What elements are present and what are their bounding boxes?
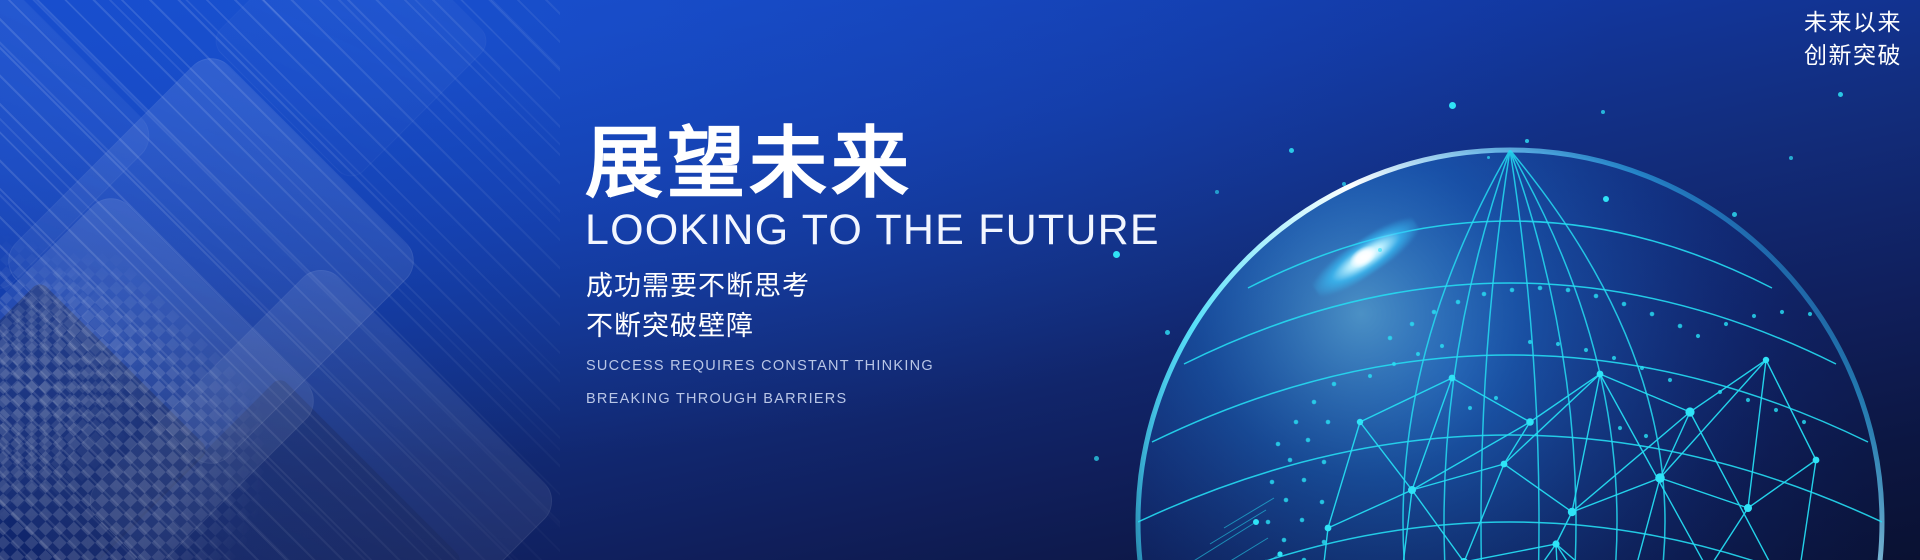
dark-diamond-shape [96,376,464,560]
banner-root: 未来以来 创新突破 展望未来 LOOKING TO THE FUTURE 成功需… [0,0,1920,560]
glass-panel-shape [208,0,494,184]
glass-panel-shape [0,187,325,560]
particle-dot [1289,148,1294,153]
particle-dot [1601,110,1605,114]
particle-dot [1094,456,1099,461]
glass-panel-shape [79,259,560,560]
headline-block: 展望未来 LOOKING TO THE FUTURE 成功需要不断思考 不断突破… [583,124,1223,413]
particle-dot [1449,102,1456,109]
checker-dot-pattern [0,232,328,560]
particle-dot [1342,182,1346,186]
tagline-cn-line1: 成功需要不断思考 [586,267,1223,305]
corner-tagline-line1: 未来以来 [1804,6,1902,39]
tagline-en-line2: BREAKING THROUGH BARRIERS [586,387,1223,412]
diagonal-stripes [0,0,560,560]
particle-dot [1487,156,1490,159]
glass-panel-shape [0,47,425,474]
tagline-en-line1: SUCCESS REQUIRES CONSTANT THINKING [586,354,1223,379]
corner-tagline-line2: 创新突破 [1804,39,1902,72]
diagonal-stripes [0,0,560,560]
particle-dot [1838,92,1843,97]
particle-dot [1525,139,1529,143]
globe-limb-flare [1307,209,1425,304]
tagline-cn-line2: 不断突破壁障 [586,307,1223,345]
particle-dot [1789,156,1793,160]
dark-diamond-shape [0,280,210,560]
corner-tagline: 未来以来 创新突破 [1804,6,1902,73]
glass-panel-shape [0,0,160,300]
particle-dot [1603,196,1609,202]
globe-limb-flare-core [1346,241,1381,273]
page-subtitle-en: LOOKING TO THE FUTURE [585,208,1223,253]
page-title: 展望未来 [585,124,1223,202]
particle-dot [1732,212,1737,217]
checker-dot-pattern [0,196,184,560]
left-geometric-decoration [0,0,560,560]
particle-dot [1378,248,1382,252]
